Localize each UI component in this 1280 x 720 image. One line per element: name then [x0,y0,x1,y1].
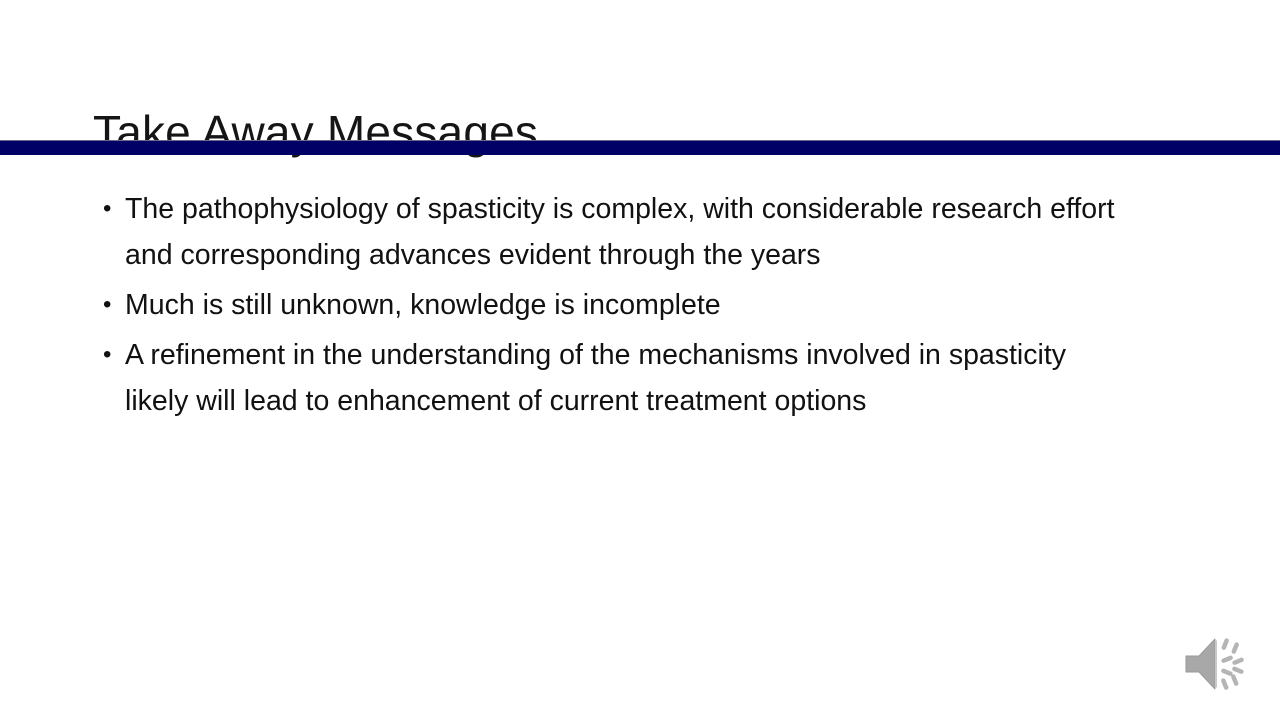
list-item: A refinement in the understanding of the… [100,332,1135,424]
list-item: Much is still unknown, knowledge is inco… [100,282,1135,328]
title-divider-bar [0,140,1280,155]
speaker-icon[interactable] [1182,633,1252,695]
list-item: The pathophysiology of spasticity is com… [100,186,1135,278]
bullet-list: The pathophysiology of spasticity is com… [100,186,1135,428]
slide-canvas: Take Away Messages The pathophysiology o… [0,0,1280,720]
